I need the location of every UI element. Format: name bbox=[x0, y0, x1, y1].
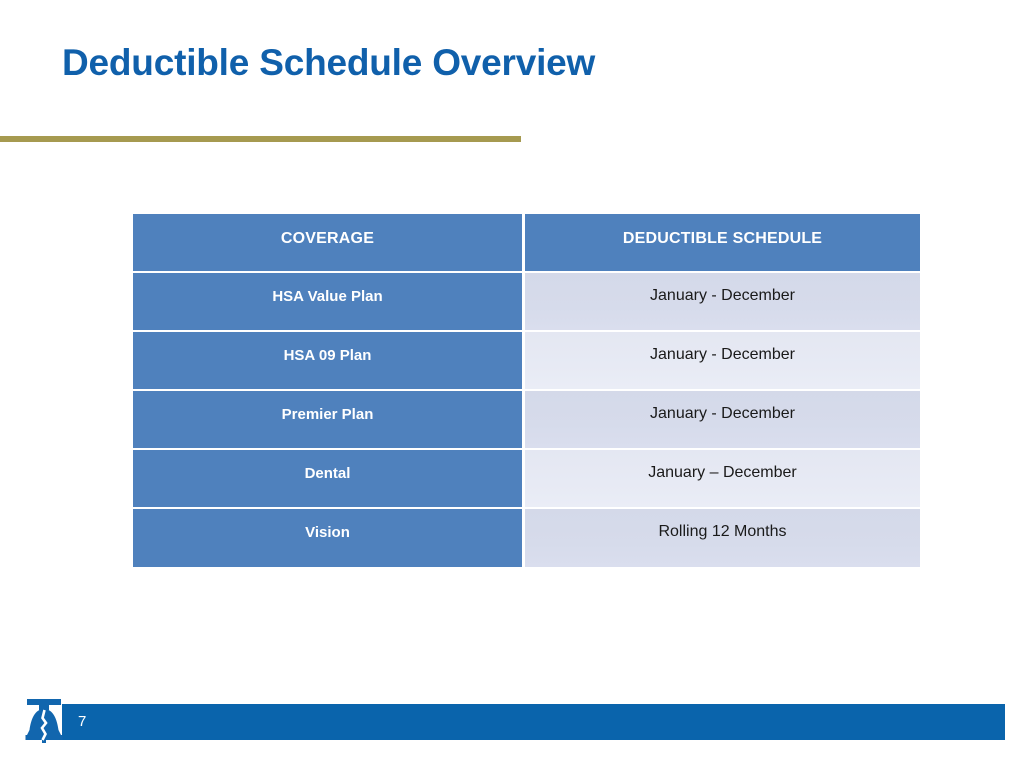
cell-schedule: Rolling 12 Months bbox=[525, 509, 920, 567]
table-row: HSA 09 Plan January - December bbox=[133, 332, 920, 391]
title-divider-rule bbox=[0, 136, 521, 142]
liberty-bell-icon bbox=[21, 697, 67, 745]
table-row: Vision Rolling 12 Months bbox=[133, 509, 920, 567]
cell-coverage: HSA Value Plan bbox=[133, 273, 525, 332]
column-header-coverage: COVERAGE bbox=[133, 214, 525, 273]
footer-bar: 7 bbox=[62, 704, 1005, 740]
cell-coverage: Vision bbox=[133, 509, 525, 567]
table-row: Premier Plan January - December bbox=[133, 391, 920, 450]
cell-schedule: January - December bbox=[525, 273, 920, 332]
table-header-row: COVERAGE DEDUCTIBLE SCHEDULE bbox=[133, 214, 920, 273]
cell-schedule: January – December bbox=[525, 450, 920, 509]
cell-schedule: January - December bbox=[525, 332, 920, 391]
page-number: 7 bbox=[78, 712, 86, 732]
cell-coverage: Premier Plan bbox=[133, 391, 525, 450]
deductible-schedule-table: COVERAGE DEDUCTIBLE SCHEDULE HSA Value P… bbox=[133, 214, 920, 567]
table-row: HSA Value Plan January - December bbox=[133, 273, 920, 332]
cell-coverage: HSA 09 Plan bbox=[133, 332, 525, 391]
page-title: Deductible Schedule Overview bbox=[62, 42, 595, 84]
table-row: Dental January – December bbox=[133, 450, 920, 509]
cell-schedule: January - December bbox=[525, 391, 920, 450]
cell-coverage: Dental bbox=[133, 450, 525, 509]
column-header-deductible-schedule: DEDUCTIBLE SCHEDULE bbox=[525, 214, 920, 273]
